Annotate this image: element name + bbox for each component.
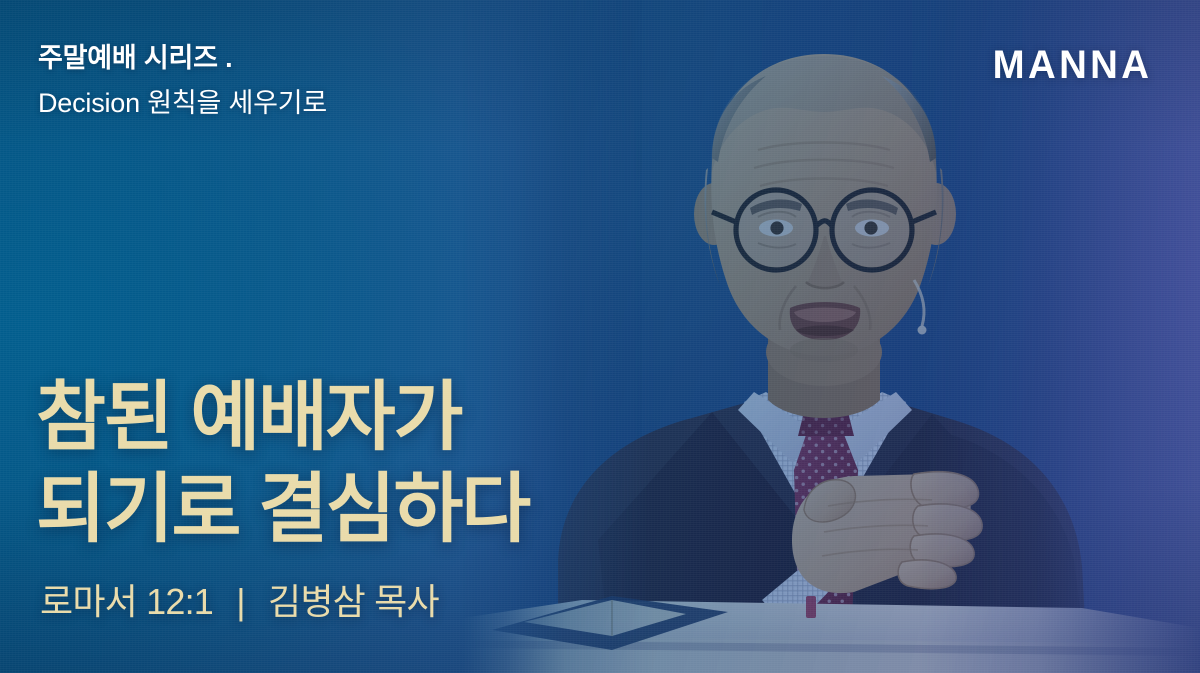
- series-label: 주말예배 시리즈 . Decision 원칙을 세우기로: [38, 41, 658, 120]
- sermon-meta: 로마서 12:1 | 김병삼 목사: [40, 580, 439, 624]
- series-line-2: Decision 원칙을 세우기로: [38, 86, 658, 120]
- meta-separator: |: [222, 580, 259, 624]
- scripture-reference: 로마서 12:1: [40, 581, 213, 622]
- speaker-name: 김병삼 목사: [268, 581, 439, 622]
- series-line-1: 주말예배 시리즈 .: [38, 41, 658, 75]
- brand-logo-manna: MANNA: [992, 44, 1152, 86]
- sermon-title-line-2: 되기로 결심하다: [36, 464, 716, 556]
- sermon-thumbnail: 주말예배 시리즈 . Decision 원칙을 세우기로 MANNA 참된 예배…: [0, 0, 1200, 673]
- sermon-title: 참된 예배자가 되기로 결심하다: [36, 372, 716, 556]
- sermon-title-line-1: 참된 예배자가: [36, 372, 716, 464]
